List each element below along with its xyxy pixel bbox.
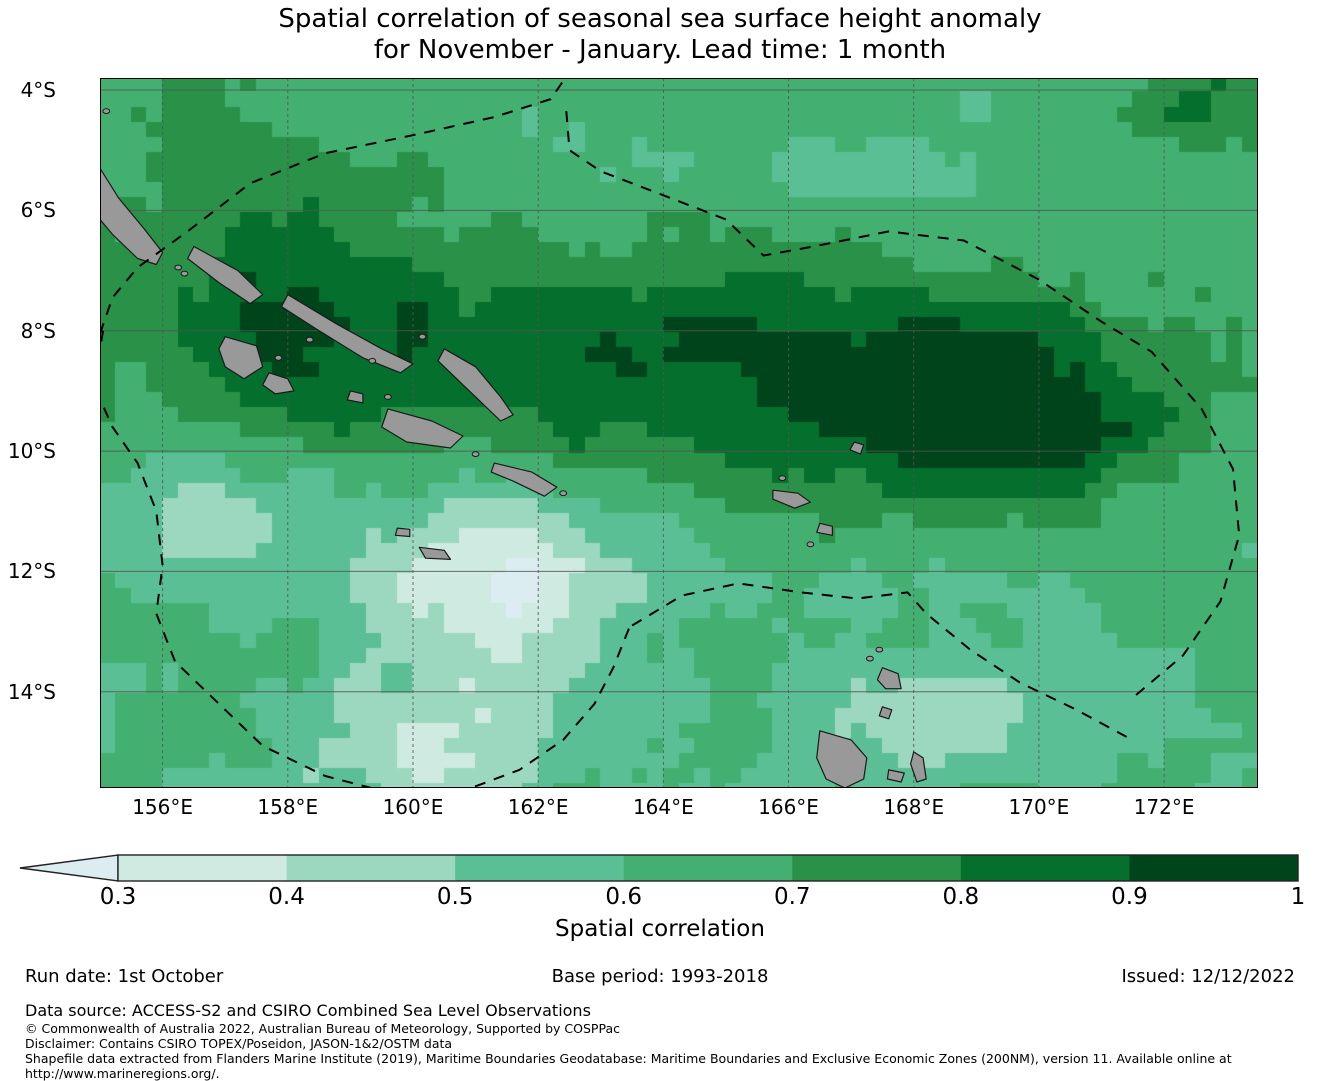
lon-tick-156°E: 156°E xyxy=(132,795,193,819)
colorbar-tick-0.4: 0.4 xyxy=(268,884,305,910)
base-period-text: Base period: 1993-2018 xyxy=(552,966,769,987)
lat-tick-14°S: 14°S xyxy=(8,680,56,704)
colorbar-tick-0.3: 0.3 xyxy=(100,884,137,910)
metadata-row: Run date: 1st October Base period: 1993-… xyxy=(0,966,1320,992)
colorbar-axis-label: Spatial correlation xyxy=(0,916,1320,942)
chart-title-line-1: Spatial correlation of seasonal sea surf… xyxy=(0,4,1320,35)
copyright-text: © Commonwealth of Australia 2022, Austra… xyxy=(25,1021,1305,1036)
map-plot-area xyxy=(100,78,1258,788)
lon-tick-160°E: 160°E xyxy=(383,795,444,819)
colorbar-tick-0.9: 0.9 xyxy=(1111,884,1148,910)
run-date-text: Run date: 1st October xyxy=(25,966,223,987)
lat-tick-6°S: 6°S xyxy=(21,198,56,222)
colorbar-tick-0.5: 0.5 xyxy=(437,884,474,910)
colorbar-tick-0.6: 0.6 xyxy=(605,884,642,910)
colorbar: 0.30.40.50.60.70.80.91 Spatial correlati… xyxy=(0,850,1320,950)
lat-tick-8°S: 8°S xyxy=(21,319,56,343)
colorbar-tick-0.8: 0.8 xyxy=(943,884,980,910)
chart-title-line-2: for November - January. Lead time: 1 mon… xyxy=(0,35,1320,66)
disclaimer-text: Disclaimer: Contains CSIRO TOPEX/Poseido… xyxy=(25,1036,1305,1051)
lon-tick-168°E: 168°E xyxy=(883,795,944,819)
chart-title: Spatial correlation of seasonal sea surf… xyxy=(0,4,1320,66)
lon-tick-164°E: 164°E xyxy=(633,795,694,819)
lat-tick-10°S: 10°S xyxy=(8,439,56,463)
lon-tick-162°E: 162°E xyxy=(508,795,569,819)
eez-boundary-line xyxy=(100,78,1258,788)
issued-date-text: Issued: 12/12/2022 xyxy=(1121,966,1295,987)
lon-tick-170°E: 170°E xyxy=(1009,795,1070,819)
lon-tick-172°E: 172°E xyxy=(1134,795,1195,819)
lon-tick-158°E: 158°E xyxy=(257,795,318,819)
lat-tick-4°S: 4°S xyxy=(21,78,56,102)
colorbar-tick-0.7: 0.7 xyxy=(774,884,811,910)
shapefile-text: Shapefile data extracted from Flanders M… xyxy=(25,1051,1305,1066)
lat-tick-12°S: 12°S xyxy=(8,559,56,583)
marineregions-url: http://www.marineregions.org/. xyxy=(25,1066,1305,1081)
lon-tick-166°E: 166°E xyxy=(758,795,819,819)
footer-notes: Data source: ACCESS-S2 and CSIRO Combine… xyxy=(25,1001,1305,1081)
data-source-text: Data source: ACCESS-S2 and CSIRO Combine… xyxy=(25,1001,1305,1021)
correlation-heatmap xyxy=(100,78,1258,788)
colorbar-tick-1: 1 xyxy=(1291,884,1306,910)
